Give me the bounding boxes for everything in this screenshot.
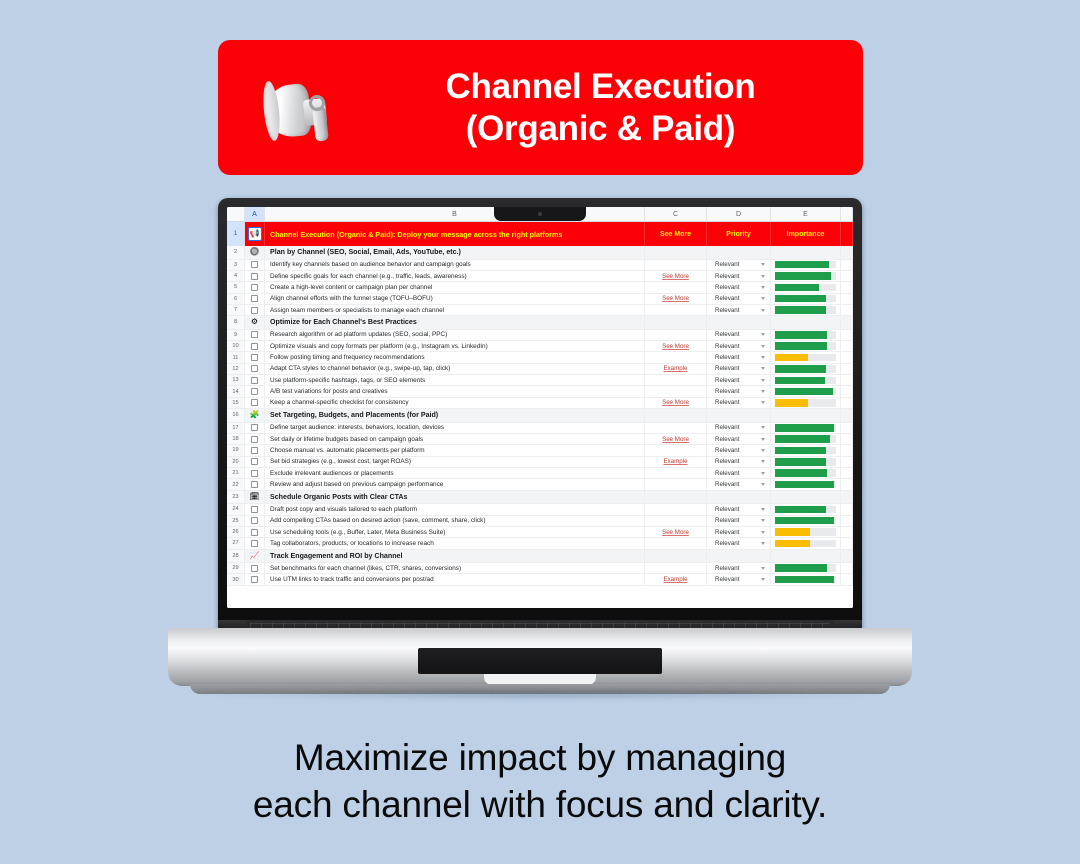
- task-cell-f: [841, 504, 853, 514]
- banner-title: Channel Execution (Organic & Paid): [350, 66, 863, 149]
- task-checkbox-cell[interactable]: [245, 364, 265, 374]
- priority-dropdown[interactable]: Relevant: [707, 271, 771, 281]
- priority-value: Relevant: [715, 436, 739, 443]
- task-row: 11Follow posting timing and frequency re…: [227, 352, 853, 363]
- task-text: Adapt CTA styles to channel behavior (e.…: [265, 364, 645, 374]
- priority-dropdown[interactable]: Relevant: [707, 479, 771, 489]
- priority-dropdown[interactable]: Relevant: [707, 445, 771, 455]
- task-cell-f: [841, 479, 853, 489]
- section-row: 2🔘Plan by Channel (SEO, Social, Email, A…: [227, 246, 853, 260]
- section-cell-f: [841, 316, 853, 329]
- chevron-down-icon[interactable]: [761, 508, 765, 511]
- priority-dropdown[interactable]: Relevant: [707, 423, 771, 433]
- task-cell-f: [841, 538, 853, 548]
- checkbox-icon[interactable]: [251, 307, 258, 314]
- task-checkbox-cell[interactable]: [245, 398, 265, 408]
- task-link-cell[interactable]: [645, 538, 707, 548]
- chevron-down-icon[interactable]: [761, 531, 765, 534]
- priority-dropdown[interactable]: Relevant: [707, 563, 771, 573]
- priority-value: Relevant: [715, 261, 739, 268]
- checkbox-icon[interactable]: [251, 388, 258, 395]
- importance-bar-track: [775, 261, 836, 269]
- camera-icon: [538, 212, 542, 216]
- priority-dropdown[interactable]: Relevant: [707, 434, 771, 444]
- priority-value: Relevant: [715, 354, 739, 361]
- task-cell-f: [841, 364, 853, 374]
- priority-dropdown[interactable]: Relevant: [707, 364, 771, 374]
- column-header-a[interactable]: A: [245, 207, 265, 221]
- task-link-cell[interactable]: [645, 468, 707, 478]
- row-number[interactable]: 9: [227, 330, 245, 340]
- chevron-down-icon[interactable]: [761, 309, 765, 312]
- task-text: Draft post copy and visuals tailored to …: [265, 504, 645, 514]
- task-link-cell[interactable]: [645, 305, 707, 315]
- chevron-down-icon[interactable]: [761, 297, 765, 300]
- task-checkbox-cell[interactable]: [245, 305, 265, 315]
- header-importance: Importance: [771, 222, 841, 246]
- row-number[interactable]: 28: [227, 550, 245, 563]
- importance-cell: [771, 574, 841, 584]
- importance-bar-track: [775, 506, 836, 514]
- task-cell-f: [841, 563, 853, 573]
- task-row: 30Use UTM links to track traffic and con…: [227, 574, 853, 585]
- checkbox-icon[interactable]: [251, 331, 258, 338]
- importance-bar-track: [775, 272, 836, 280]
- chevron-down-icon[interactable]: [761, 379, 765, 382]
- loudspeaker-icon: 📢: [248, 227, 262, 241]
- importance-cell: [771, 479, 841, 489]
- importance-cell: [771, 468, 841, 478]
- column-header-e[interactable]: E: [771, 207, 841, 221]
- priority-dropdown[interactable]: Relevant: [707, 341, 771, 351]
- task-cell-f: [841, 574, 853, 584]
- chevron-down-icon[interactable]: [761, 390, 765, 393]
- checkbox-icon[interactable]: [251, 506, 258, 513]
- task-cell-f: [841, 271, 853, 281]
- chevron-down-icon[interactable]: [761, 542, 765, 545]
- see-more-link[interactable]: See More: [662, 273, 689, 280]
- checkbox-icon[interactable]: [251, 540, 258, 547]
- banner-title-line2: (Organic & Paid): [350, 108, 851, 149]
- see-more-link[interactable]: See More: [662, 399, 689, 406]
- row-number[interactable]: 18: [227, 434, 245, 444]
- chevron-down-icon[interactable]: [761, 519, 765, 522]
- caption-line2: each channel with focus and clarity.: [0, 781, 1080, 828]
- importance-cell: [771, 352, 841, 362]
- checkbox-icon[interactable]: [251, 576, 258, 583]
- priority-value: Relevant: [715, 399, 739, 406]
- task-link-cell[interactable]: [645, 445, 707, 455]
- chevron-down-icon[interactable]: [761, 286, 765, 289]
- importance-bar-fill: [775, 447, 826, 455]
- priority-dropdown[interactable]: Relevant: [707, 260, 771, 270]
- row-number[interactable]: 20: [227, 457, 245, 467]
- task-row: 9Research algorithm or ad platform updat…: [227, 330, 853, 341]
- row-number[interactable]: 19: [227, 445, 245, 455]
- task-checkbox-cell[interactable]: [245, 282, 265, 292]
- row-number[interactable]: 25: [227, 516, 245, 526]
- section-icon: 📈: [245, 550, 265, 563]
- row-number[interactable]: 12: [227, 364, 245, 374]
- priority-dropdown[interactable]: Relevant: [707, 527, 771, 537]
- row-number[interactable]: 30: [227, 574, 245, 584]
- priority-dropdown[interactable]: Relevant: [707, 386, 771, 396]
- task-row: 27Tag collaborators, products, or locati…: [227, 538, 853, 549]
- row-number[interactable]: 2: [227, 246, 245, 259]
- task-link-cell[interactable]: See More: [645, 341, 707, 351]
- priority-dropdown[interactable]: Relevant: [707, 398, 771, 408]
- row-number[interactable]: 16: [227, 409, 245, 422]
- checkbox-icon[interactable]: [251, 343, 258, 350]
- task-link-cell[interactable]: See More: [645, 271, 707, 281]
- section-cell-d: [707, 409, 771, 422]
- priority-dropdown[interactable]: Relevant: [707, 504, 771, 514]
- task-checkbox-cell[interactable]: [245, 386, 265, 396]
- task-link-cell[interactable]: [645, 504, 707, 514]
- row-number[interactable]: 24: [227, 504, 245, 514]
- chevron-down-icon[interactable]: [761, 367, 765, 370]
- priority-dropdown[interactable]: Relevant: [707, 305, 771, 315]
- task-link-cell[interactable]: See More: [645, 398, 707, 408]
- caption: Maximize impact by managing each channel…: [0, 734, 1080, 829]
- chevron-down-icon[interactable]: [761, 333, 765, 336]
- section-cell-d: [707, 491, 771, 504]
- importance-cell: [771, 504, 841, 514]
- section-row: 28📈Track Engagement and ROI by Channel: [227, 550, 853, 564]
- title-row-icon-cell: 📢: [245, 222, 265, 246]
- see-more-link[interactable]: See More: [662, 295, 689, 302]
- header-see-more: See More: [645, 222, 707, 246]
- section-icon: 🧩: [245, 409, 265, 422]
- section-icon: 🔘: [245, 246, 265, 259]
- task-text: Identify key channels based on audience …: [265, 260, 645, 270]
- task-checkbox-cell[interactable]: [245, 574, 265, 584]
- chevron-down-icon[interactable]: [761, 401, 765, 404]
- importance-cell: [771, 294, 841, 304]
- example-link[interactable]: Example: [663, 458, 687, 465]
- task-link-cell[interactable]: [645, 375, 707, 385]
- importance-bar-track: [775, 331, 836, 339]
- header-priority: Priority: [707, 222, 771, 246]
- task-link-cell[interactable]: [645, 516, 707, 526]
- chevron-down-icon[interactable]: [761, 356, 765, 359]
- checkbox-icon[interactable]: [251, 458, 258, 465]
- task-checkbox-cell[interactable]: [245, 538, 265, 548]
- column-header-c[interactable]: C: [645, 207, 707, 221]
- priority-dropdown[interactable]: Relevant: [707, 375, 771, 385]
- task-checkbox-cell[interactable]: [245, 504, 265, 514]
- task-text: Choose manual vs. automatic placements p…: [265, 445, 645, 455]
- task-link-cell[interactable]: See More: [645, 527, 707, 537]
- importance-bar-track: [775, 388, 836, 396]
- priority-value: Relevant: [715, 295, 739, 302]
- importance-bar-track: [775, 564, 836, 572]
- checkbox-icon[interactable]: [251, 424, 258, 431]
- task-link-cell[interactable]: Example: [645, 364, 707, 374]
- chevron-down-icon[interactable]: [761, 345, 765, 348]
- importance-bar-fill: [775, 424, 834, 432]
- task-checkbox-cell[interactable]: [245, 271, 265, 281]
- checkbox-icon[interactable]: [251, 436, 258, 443]
- task-row: 5Create a high-level content or campaign…: [227, 282, 853, 293]
- section-row: 23🗓Schedule Organic Posts with Clear CTA…: [227, 491, 853, 505]
- section-row: 8⚙Optimize for Each Channel's Best Pract…: [227, 316, 853, 330]
- task-row: 21Exclude irrelevant audiences or placem…: [227, 468, 853, 479]
- section-cell-d: [707, 246, 771, 259]
- task-cell-f: [841, 375, 853, 385]
- task-text: Keep a channel-specific checklist for co…: [265, 398, 645, 408]
- task-checkbox-cell[interactable]: [245, 479, 265, 489]
- task-text: Add compelling CTAs based on desired act…: [265, 516, 645, 526]
- importance-bar-track: [775, 528, 836, 536]
- importance-bar-fill: [775, 342, 827, 350]
- importance-cell: [771, 538, 841, 548]
- row-number[interactable]: 26: [227, 527, 245, 537]
- task-text: Set bid strategies (e.g., lowest cost, t…: [265, 457, 645, 467]
- task-cell-f: [841, 398, 853, 408]
- importance-bar-track: [775, 424, 836, 432]
- task-checkbox-cell[interactable]: [245, 294, 265, 304]
- checkbox-icon[interactable]: [251, 529, 258, 536]
- task-text: Tag collaborators, products, or location…: [265, 538, 645, 548]
- section-cell-f: [841, 246, 853, 259]
- task-text: Assign team members or specialists to ma…: [265, 305, 645, 315]
- importance-bar-track: [775, 295, 836, 303]
- task-checkbox-cell[interactable]: [245, 330, 265, 340]
- task-checkbox-cell[interactable]: [245, 445, 265, 455]
- row-number[interactable]: 13: [227, 375, 245, 385]
- task-link-cell[interactable]: Example: [645, 457, 707, 467]
- checkbox-icon[interactable]: [251, 447, 258, 454]
- see-more-link[interactable]: See More: [662, 343, 689, 350]
- chevron-down-icon[interactable]: [761, 449, 765, 452]
- row-number[interactable]: 8: [227, 316, 245, 329]
- column-header-b[interactable]: B: [265, 207, 645, 221]
- task-row: 13Use platform-specific hashtags, tags, …: [227, 375, 853, 386]
- checkbox-icon[interactable]: [251, 295, 258, 302]
- example-link[interactable]: Example: [663, 576, 687, 583]
- row-number[interactable]: 4: [227, 271, 245, 281]
- task-cell-f: [841, 386, 853, 396]
- section-cell-f: [841, 550, 853, 563]
- task-cell-f: [841, 516, 853, 526]
- priority-dropdown[interactable]: Relevant: [707, 294, 771, 304]
- chevron-down-icon[interactable]: [761, 426, 765, 429]
- row-number[interactable]: 7: [227, 305, 245, 315]
- task-cell-f: [841, 260, 853, 270]
- task-cell-f: [841, 434, 853, 444]
- task-checkbox-cell[interactable]: [245, 341, 265, 351]
- row-number[interactable]: 5: [227, 282, 245, 292]
- checkbox-icon[interactable]: [251, 354, 258, 361]
- task-row: 22Review and adjust based on previous ca…: [227, 479, 853, 490]
- section-cell-c: [645, 316, 707, 329]
- importance-bar-fill: [775, 576, 834, 584]
- task-text: Exclude irrelevant audiences or placemen…: [265, 468, 645, 478]
- priority-value: Relevant: [715, 470, 739, 477]
- task-row: 18Set daily or lifetime budgets based on…: [227, 434, 853, 445]
- section-cell-e: [771, 409, 841, 422]
- task-link-cell[interactable]: [645, 423, 707, 433]
- importance-bar-track: [775, 447, 836, 455]
- column-header-d[interactable]: D: [707, 207, 771, 221]
- checkbox-icon[interactable]: [251, 377, 258, 384]
- checkbox-icon[interactable]: [251, 470, 258, 477]
- importance-cell: [771, 271, 841, 281]
- task-text: Define specific goals for each channel (…: [265, 271, 645, 281]
- task-checkbox-cell[interactable]: [245, 375, 265, 385]
- priority-dropdown[interactable]: Relevant: [707, 457, 771, 467]
- webcam-notch: [494, 207, 586, 221]
- priority-value: Relevant: [715, 447, 739, 454]
- chevron-down-icon[interactable]: [761, 578, 765, 581]
- checkbox-icon[interactable]: [251, 273, 258, 280]
- checkbox-icon[interactable]: [251, 399, 258, 406]
- priority-value: Relevant: [715, 576, 739, 583]
- task-link-cell[interactable]: See More: [645, 434, 707, 444]
- task-link-cell[interactable]: [645, 330, 707, 340]
- priority-dropdown[interactable]: Relevant: [707, 574, 771, 584]
- task-link-cell[interactable]: [645, 563, 707, 573]
- task-checkbox-cell[interactable]: [245, 434, 265, 444]
- row-number[interactable]: 3: [227, 260, 245, 270]
- task-row: 19Choose manual vs. automatic placements…: [227, 445, 853, 456]
- importance-bar-track: [775, 399, 836, 407]
- task-checkbox-cell[interactable]: [245, 352, 265, 362]
- priority-value: Relevant: [715, 424, 739, 431]
- chevron-down-icon[interactable]: [761, 275, 765, 278]
- task-checkbox-cell[interactable]: [245, 527, 265, 537]
- importance-cell: [771, 282, 841, 292]
- section-cell-e: [771, 246, 841, 259]
- checkbox-icon[interactable]: [251, 481, 258, 488]
- task-link-cell[interactable]: [645, 282, 707, 292]
- row-number[interactable]: 15: [227, 398, 245, 408]
- importance-bar-fill: [775, 435, 830, 443]
- task-text: Use UTM links to track traffic and conve…: [265, 574, 645, 584]
- task-cell-f: [841, 527, 853, 537]
- title-banner: Channel Execution (Organic & Paid): [218, 40, 863, 175]
- corner-cell[interactable]: [227, 207, 245, 221]
- row-number[interactable]: 23: [227, 491, 245, 504]
- banner-title-line1: Channel Execution: [446, 67, 756, 106]
- task-row: 14A/B test variations for posts and crea…: [227, 386, 853, 397]
- task-link-cell[interactable]: Example: [645, 574, 707, 584]
- importance-cell: [771, 398, 841, 408]
- task-text: Optimize visuals and copy formats per pl…: [265, 341, 645, 351]
- row-number[interactable]: 11: [227, 352, 245, 362]
- priority-dropdown[interactable]: Relevant: [707, 468, 771, 478]
- priority-dropdown[interactable]: Relevant: [707, 330, 771, 340]
- task-cell-f: [841, 352, 853, 362]
- task-text: Set benchmarks for each channel (likes, …: [265, 563, 645, 573]
- priority-value: Relevant: [715, 529, 739, 536]
- importance-cell: [771, 386, 841, 396]
- importance-cell: [771, 341, 841, 351]
- priority-dropdown[interactable]: Relevant: [707, 516, 771, 526]
- importance-cell: [771, 330, 841, 340]
- priority-dropdown[interactable]: Relevant: [707, 538, 771, 548]
- example-link[interactable]: Example: [663, 365, 687, 372]
- row-number[interactable]: 10: [227, 341, 245, 351]
- row-number[interactable]: 27: [227, 538, 245, 548]
- chevron-down-icon[interactable]: [761, 438, 765, 441]
- importance-bar-track: [775, 342, 836, 350]
- importance-bar-track: [775, 458, 836, 466]
- task-row: 29Set benchmarks for each channel (likes…: [227, 563, 853, 574]
- task-row: 4Define specific goals for each channel …: [227, 271, 853, 282]
- laptop-screen: A B C D E 1 📢 Channel Execution (Organic: [227, 207, 853, 608]
- row-number[interactable]: 14: [227, 386, 245, 396]
- task-checkbox-cell[interactable]: [245, 260, 265, 270]
- row-number[interactable]: 1: [227, 222, 245, 246]
- priority-value: Relevant: [715, 481, 739, 488]
- row-number[interactable]: 6: [227, 294, 245, 304]
- row-number[interactable]: 22: [227, 479, 245, 489]
- see-more-link[interactable]: See More: [662, 529, 689, 536]
- section-cell-f: [841, 409, 853, 422]
- priority-dropdown[interactable]: Relevant: [707, 282, 771, 292]
- task-checkbox-cell[interactable]: [245, 563, 265, 573]
- chevron-down-icon[interactable]: [761, 567, 765, 570]
- task-checkbox-cell[interactable]: [245, 516, 265, 526]
- section-cell-e: [771, 550, 841, 563]
- see-more-link[interactable]: See More: [662, 436, 689, 443]
- task-link-cell[interactable]: [645, 386, 707, 396]
- importance-bar-track: [775, 576, 836, 584]
- importance-bar-fill: [775, 377, 825, 385]
- importance-bar-track: [775, 469, 836, 477]
- task-link-cell[interactable]: [645, 352, 707, 362]
- importance-cell: [771, 375, 841, 385]
- column-header-f[interactable]: [841, 207, 853, 221]
- row-number[interactable]: 17: [227, 423, 245, 433]
- task-link-cell[interactable]: [645, 260, 707, 270]
- checkbox-icon[interactable]: [251, 284, 258, 291]
- priority-value: Relevant: [715, 458, 739, 465]
- task-checkbox-cell[interactable]: [245, 457, 265, 467]
- row-number[interactable]: 21: [227, 468, 245, 478]
- priority-value: Relevant: [715, 388, 739, 395]
- section-cell-d: [707, 316, 771, 329]
- chevron-down-icon[interactable]: [761, 472, 765, 475]
- task-checkbox-cell[interactable]: [245, 423, 265, 433]
- chevron-down-icon[interactable]: [761, 483, 765, 486]
- importance-bar-fill: [775, 399, 808, 407]
- importance-bar-fill: [775, 528, 810, 536]
- priority-value: Relevant: [715, 307, 739, 314]
- row-number[interactable]: 29: [227, 563, 245, 573]
- sheet-title-text: Channel Execution (Organic & Paid): Depl…: [265, 222, 645, 246]
- section-cell-f: [841, 491, 853, 504]
- task-link-cell[interactable]: [645, 479, 707, 489]
- checkbox-icon[interactable]: [251, 365, 258, 372]
- section-title: Track Engagement and ROI by Channel: [265, 550, 645, 563]
- checkbox-icon[interactable]: [251, 261, 258, 268]
- sheet-rows: 2🔘Plan by Channel (SEO, Social, Email, A…: [227, 246, 853, 608]
- section-title: Schedule Organic Posts with Clear CTAs: [265, 491, 645, 504]
- chevron-down-icon[interactable]: [761, 460, 765, 463]
- chevron-down-icon[interactable]: [761, 263, 765, 266]
- checkbox-icon[interactable]: [251, 565, 258, 572]
- importance-bar-track: [775, 306, 836, 314]
- checkbox-icon[interactable]: [251, 517, 258, 524]
- task-checkbox-cell[interactable]: [245, 468, 265, 478]
- task-cell-f: [841, 457, 853, 467]
- priority-dropdown[interactable]: Relevant: [707, 352, 771, 362]
- task-link-cell[interactable]: See More: [645, 294, 707, 304]
- task-text: Research algorithm or ad platform update…: [265, 330, 645, 340]
